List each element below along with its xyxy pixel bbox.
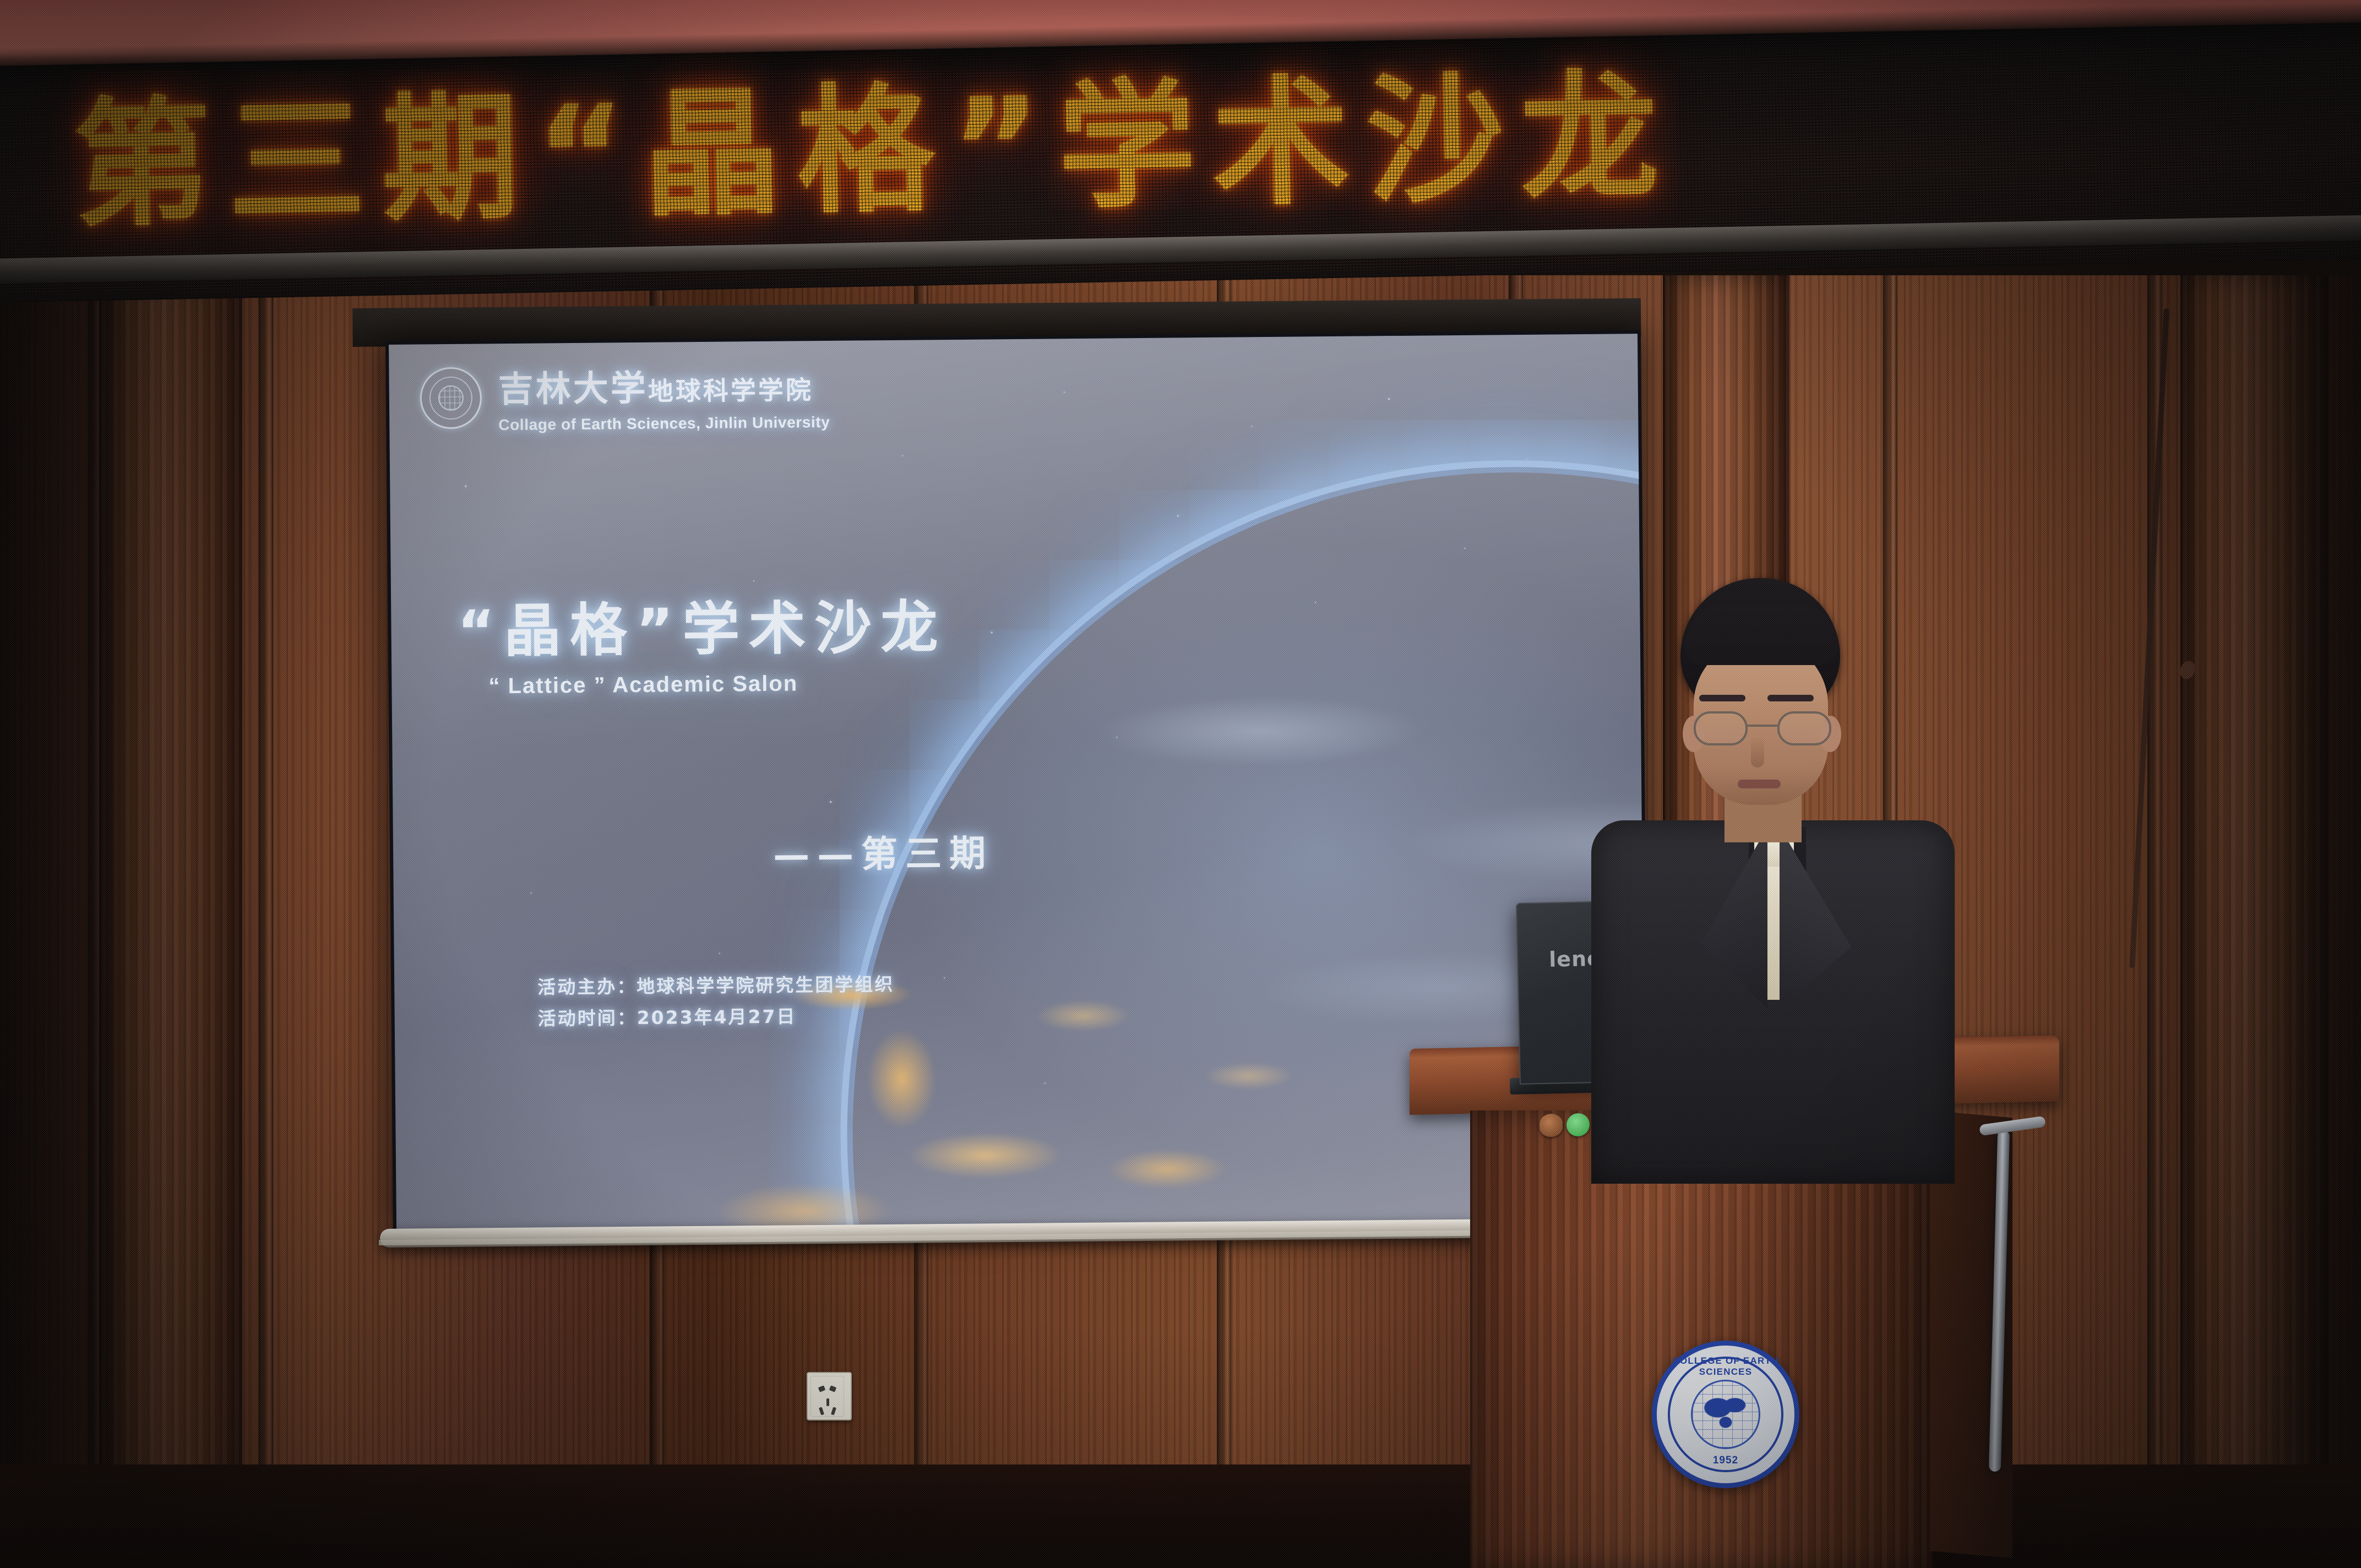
emblem-founded-year: 1952	[1657, 1455, 1794, 1467]
star	[991, 631, 992, 633]
glasses-lens-left	[1694, 711, 1748, 745]
glasses-bridge	[1748, 725, 1777, 727]
star	[830, 801, 831, 803]
speaker-person	[1586, 578, 1960, 1184]
badge-sticker	[1539, 1114, 1563, 1137]
speaker-nose	[1751, 736, 1764, 767]
college-emblem: COLLEGE OF EARTH SCIENCES 1952	[1652, 1341, 1799, 1488]
wall-shadow-right	[2130, 275, 2361, 1568]
org-college-cn: 地球科学学院	[648, 375, 813, 406]
star	[902, 455, 903, 456]
star	[465, 486, 466, 487]
photo-stage: 吉林大学地球科学学院 Collage of Earth Sciences, Ji…	[0, 0, 2361, 1568]
star	[1177, 515, 1179, 516]
jlu-seal-logo	[420, 367, 482, 429]
emblem-globe-icon	[1691, 1380, 1760, 1449]
speaker-brow-left	[1699, 695, 1745, 701]
slide-title-cn: “晶格”学术沙龙	[457, 598, 947, 660]
star	[1526, 459, 1527, 460]
star	[531, 892, 532, 894]
slide-date-line: 活动时间：2023年4月27日	[538, 1000, 895, 1035]
slide-issue-number: ——第三期	[773, 824, 994, 878]
star	[1251, 426, 1252, 427]
led-banner-text: 第三期“晶格”学术沙龙	[72, 47, 2057, 248]
speaker-brow-right	[1767, 695, 1814, 701]
star	[753, 580, 754, 581]
speaker-mouth	[1738, 780, 1781, 788]
glasses-lens-right	[1777, 711, 1831, 745]
star	[1064, 392, 1065, 393]
slide-title-en: “ Lattice ” Academic Salon	[488, 670, 947, 699]
slide-organizer-line: 活动主办：地球科学学院研究生团学组织	[537, 969, 894, 1003]
org-name-cn: 吉林大学	[498, 368, 648, 410]
slide-title-block: “晶格”学术沙龙 “ Lattice ” Academic Salon	[457, 598, 947, 699]
outlet-faceplate	[810, 1376, 844, 1417]
wall-shadow-left	[0, 275, 286, 1568]
earth-city-lights	[702, 896, 1531, 1230]
wall-power-outlet[interactable]	[807, 1372, 852, 1420]
emblem-text-en: COLLEGE OF EARTH SCIENCES	[1662, 1355, 1789, 1378]
org-name-en: Collage of Earth Sciences, Jinlin Univer…	[498, 413, 830, 434]
slide-footer: 活动主办：地球科学学院研究生团学组织 活动时间：2023年4月27日	[537, 969, 895, 1035]
slide-organization: 吉林大学地球科学学院 Collage of Earth Sciences, Ji…	[498, 369, 830, 434]
star	[1388, 398, 1390, 400]
speaker-hair-fringe	[1685, 603, 1838, 665]
